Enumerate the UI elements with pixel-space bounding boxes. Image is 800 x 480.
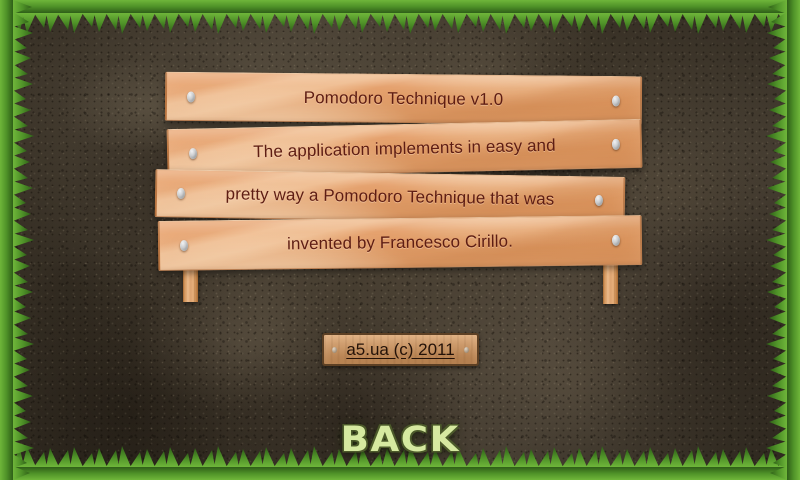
screw-icon	[332, 347, 337, 353]
credits-link-plate[interactable]: a5.ua (c) 2011	[322, 333, 479, 366]
plank-title-text: Pomodoro Technique v1.0	[304, 88, 504, 110]
screw-icon	[180, 240, 188, 251]
screw-icon	[612, 95, 620, 106]
about-screen: Pomodoro Technique v1.0 The application …	[0, 0, 800, 480]
screw-icon	[464, 347, 469, 353]
screw-icon	[595, 195, 603, 206]
plank-line-4: invented by Francesco Cirillo.	[158, 215, 643, 271]
credits-link-label: a5.ua (c) 2011	[346, 340, 454, 360]
plank-line-2: The application implements in easy and	[167, 119, 643, 178]
plank-title: Pomodoro Technique v1.0	[165, 72, 642, 126]
plank-line-4-text: invented by Francesco Cirillo.	[287, 232, 513, 255]
plank-line-3-text: pretty way a Pomodoro Technique that was	[225, 184, 554, 209]
wooden-signpost: Pomodoro Technique v1.0 The application …	[0, 0, 800, 480]
back-button[interactable]: BACK	[0, 420, 800, 460]
screw-icon	[612, 138, 620, 149]
screw-icon	[189, 148, 197, 159]
screw-icon	[187, 91, 195, 102]
screw-icon	[177, 188, 185, 199]
plank-line-2-text: The application implements in easy and	[253, 135, 556, 162]
screw-icon	[612, 235, 620, 246]
back-button-label: BACK	[340, 420, 459, 460]
